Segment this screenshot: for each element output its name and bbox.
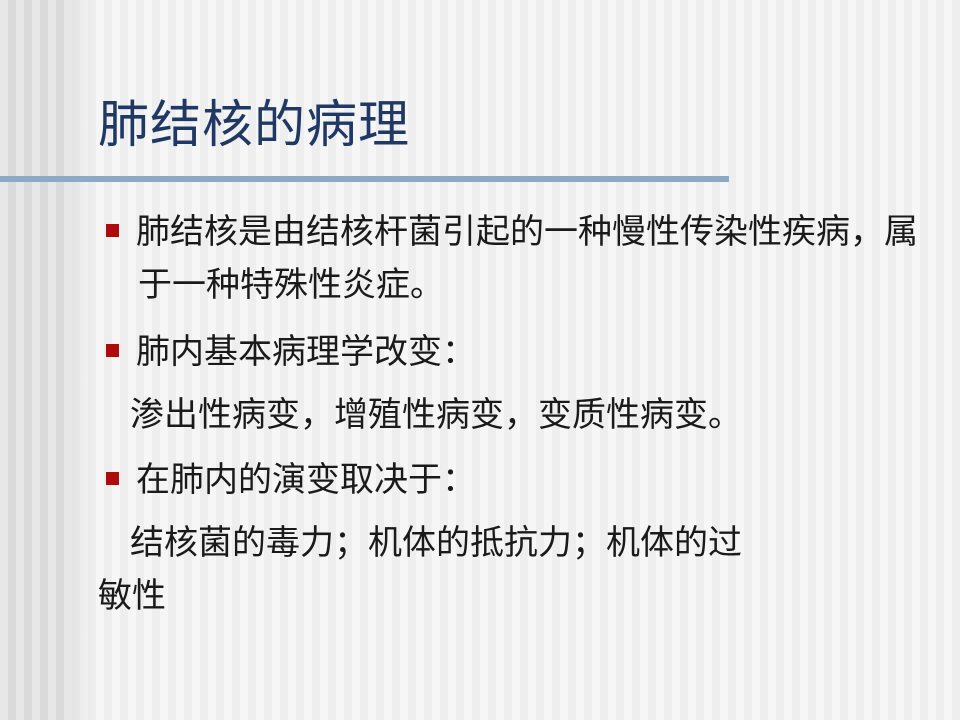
bullet-item-2-text: 肺内基本病理学改变： [138,326,960,379]
bullet-item-1: 肺结核是由结核杆菌引起的一种慢性传染性疾病，属于一种特殊性炎症。 [0,206,928,312]
continuation-line-1: 渗出性病变，增殖性病变，变质性病变。 [0,389,960,442]
continuation-line-3: 敏性 [0,570,960,623]
square-bullet-icon [106,344,119,357]
slide-body: 肺结核是由结核杆菌引起的一种慢性传染性疾病，属于一种特殊性炎症。 肺内基本病理学… [0,206,960,623]
bullet-item-2: 肺内基本病理学改变： [0,326,960,379]
spacer-2 [0,379,960,389]
spacer-3 [0,442,960,454]
continuation-line-2: 结核菌的毒力；机体的抵抗力；机体的过 [0,517,960,570]
title-divider-rule [0,176,729,182]
slide-title: 肺结核的病理 [98,96,898,156]
slide-canvas: 肺结核的病理 肺结核是由结核杆菌引起的一种慢性传染性疾病，属于一种特殊性炎症。 … [0,0,960,720]
bullet-item-1-text: 肺结核是由结核杆菌引起的一种慢性传染性疾病，属于一种特殊性炎症。 [138,206,928,312]
square-bullet-icon [106,472,119,485]
bullet-item-3-text: 在肺内的演变取决于： [138,454,960,507]
spacer-4 [0,507,960,517]
spacer-1 [0,312,960,326]
square-bullet-icon [106,224,119,237]
bullet-item-3: 在肺内的演变取决于： [0,454,960,507]
